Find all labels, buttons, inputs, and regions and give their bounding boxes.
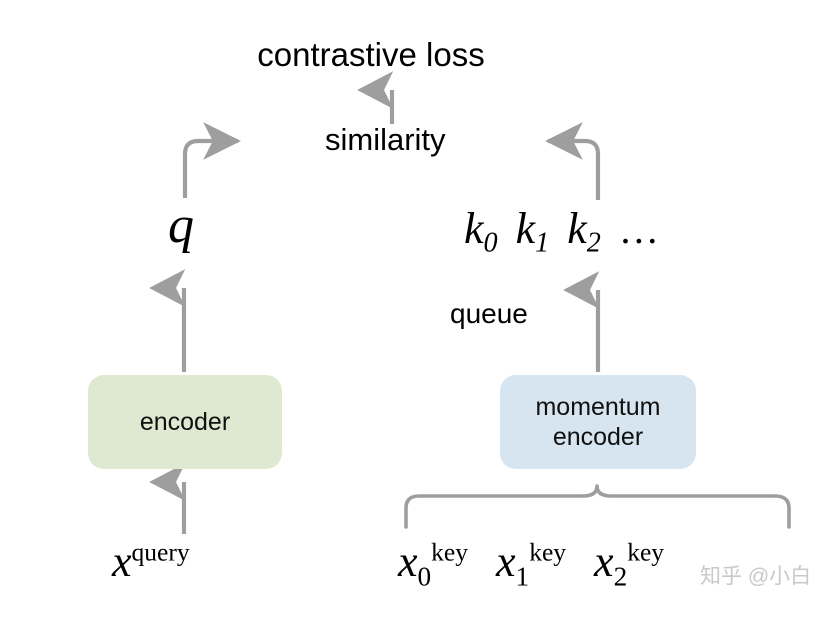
key-input-2-base: x	[594, 537, 614, 586]
query-input-base: x	[112, 537, 132, 586]
key-input-2-sub: 2	[614, 561, 628, 591]
watermark: 知乎 @小白	[700, 560, 811, 590]
key-input-0-sub: 0	[418, 561, 432, 591]
momentum-encoder-label-line2: encoder	[553, 423, 643, 451]
key-input-1-base: x	[496, 537, 516, 586]
key-input-1-sup: key	[529, 538, 566, 567]
query-input-symbol: xquery	[112, 536, 190, 587]
key-symbol-0-base: k	[464, 204, 484, 253]
key-symbol-1: k1	[516, 203, 550, 259]
key-symbol-2-base: k	[567, 204, 587, 253]
key-inputs-row: x0key x1key x2key	[398, 536, 692, 592]
momentum-encoder-box[interactable]: momentum encoder	[500, 375, 696, 469]
key-input-0: x0key	[398, 536, 468, 592]
arrow-q-to-similarity	[185, 141, 238, 198]
key-input-0-base: x	[398, 537, 418, 586]
similarity-label: similarity	[325, 122, 446, 158]
queue-label: queue	[450, 298, 528, 330]
key-input-1: x1key	[496, 536, 566, 592]
key-symbol-2: k2	[567, 203, 601, 259]
key-input-2-sup: key	[627, 538, 664, 567]
key-symbol-1-sub: 1	[535, 227, 549, 258]
queue-label-text: queue	[450, 298, 528, 329]
curly-brace-key-inputs	[406, 486, 789, 527]
key-representations-row: k0 k1 k2 …	[464, 203, 661, 259]
query-representation-symbol: q	[168, 196, 194, 255]
key-symbol-0-sub: 0	[484, 227, 498, 258]
key-symbol-1-base: k	[516, 204, 536, 253]
page-title: contrastive loss	[0, 36, 784, 74]
key-symbol-0: k0	[464, 203, 498, 259]
key-input-1-sub: 1	[516, 561, 530, 591]
key-symbol-2-sub: 2	[587, 227, 601, 258]
momentum-encoder-box-label: momentum encoder	[535, 392, 660, 453]
key-input-0-sup: key	[431, 538, 468, 567]
diagram-canvas: contrastive loss similarity queue q k0 k…	[0, 0, 826, 634]
momentum-encoder-label-line1: momentum	[535, 393, 660, 421]
key-input-2: x2key	[594, 536, 664, 592]
encoder-box-label: encoder	[140, 407, 230, 438]
arrow-k-to-similarity	[548, 141, 598, 200]
encoder-box[interactable]: encoder	[88, 375, 282, 469]
query-input-sup: query	[132, 538, 190, 567]
key-symbols-ellipsis: …	[619, 206, 661, 253]
